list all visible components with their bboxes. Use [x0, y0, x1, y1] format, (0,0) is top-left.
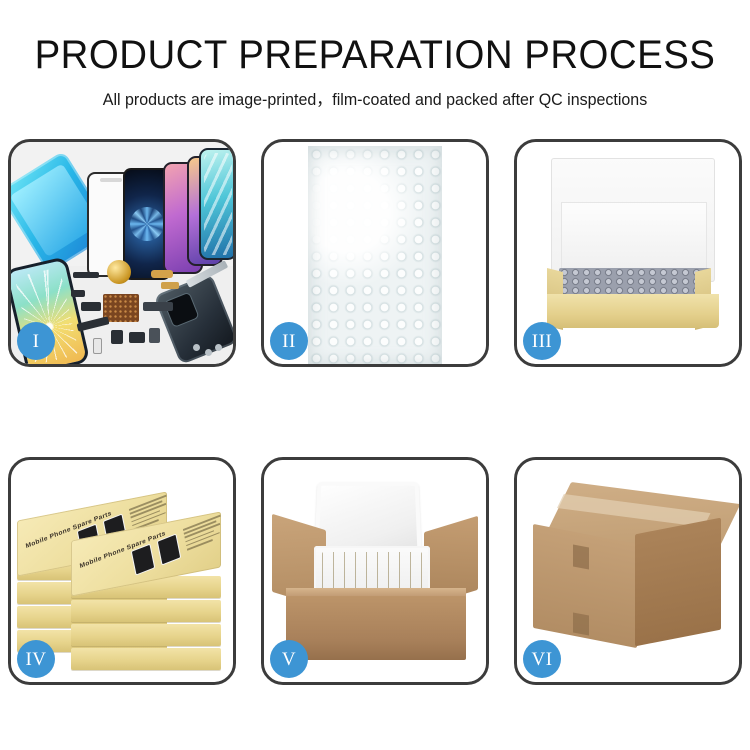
- box-art-screen-icon: [131, 543, 156, 575]
- step-panel-5: V: [261, 457, 489, 685]
- phone-teal-icon: [199, 148, 233, 260]
- retail-boxes-inside-icon: [322, 552, 422, 592]
- step-panel-4: Mobile Phone Spare Parts Mobile Phone Sp…: [8, 457, 236, 685]
- spare-part-icon: [111, 330, 123, 344]
- step-panel-2: II: [261, 139, 489, 367]
- retail-box-edge: [71, 600, 221, 622]
- chip-board-icon: [103, 294, 139, 322]
- step-badge-4: IV: [17, 640, 55, 678]
- step-panel-1: I: [8, 139, 236, 367]
- box-art-screen-icon: [157, 533, 182, 565]
- retail-box-edge: [71, 624, 221, 646]
- box-spec-lines: [183, 513, 229, 554]
- spare-part-icon: [73, 272, 99, 278]
- spare-part-icon: [129, 332, 145, 343]
- step-badge-1: I: [17, 322, 55, 360]
- product-preparation-infographic: PRODUCT PREPARATION PROCESS All products…: [0, 0, 750, 750]
- spare-part-icon: [149, 328, 160, 343]
- carton-right-face-icon: [635, 518, 721, 647]
- foam-sheet-icon: [561, 202, 707, 270]
- carton-front-icon: [286, 596, 466, 660]
- spare-part-icon: [81, 302, 101, 311]
- spare-part-icon: [143, 302, 173, 311]
- step-panel-3: III: [514, 139, 742, 367]
- page-title: PRODUCT PREPARATION PROCESS: [15, 34, 735, 76]
- spare-part-icon: [151, 270, 173, 278]
- screws-icon: [193, 344, 223, 360]
- bubble-wrap-bag-icon: [308, 146, 442, 364]
- sim-tray-icon: [93, 338, 102, 354]
- step-panel-6: VI: [514, 457, 742, 685]
- spare-part-icon: [71, 290, 85, 297]
- carton-seam-icon: [573, 612, 589, 635]
- box-front-icon: [547, 294, 719, 328]
- step-badge-3: III: [523, 322, 561, 360]
- step-badge-5: V: [270, 640, 308, 678]
- foam-lid-icon: [314, 482, 421, 552]
- retail-box-edge: [71, 648, 221, 670]
- page-subtitle: All products are image-printed，film-coat…: [11, 86, 739, 110]
- step-badge-2: II: [270, 322, 308, 360]
- spare-part-icon: [161, 282, 179, 289]
- step-badge-6: VI: [523, 640, 561, 678]
- steps-grid: I II: [8, 139, 742, 685]
- header: PRODUCT PREPARATION PROCESS All products…: [0, 0, 750, 110]
- speaker-module-icon: [107, 260, 131, 284]
- carton-seam-icon: [573, 544, 589, 569]
